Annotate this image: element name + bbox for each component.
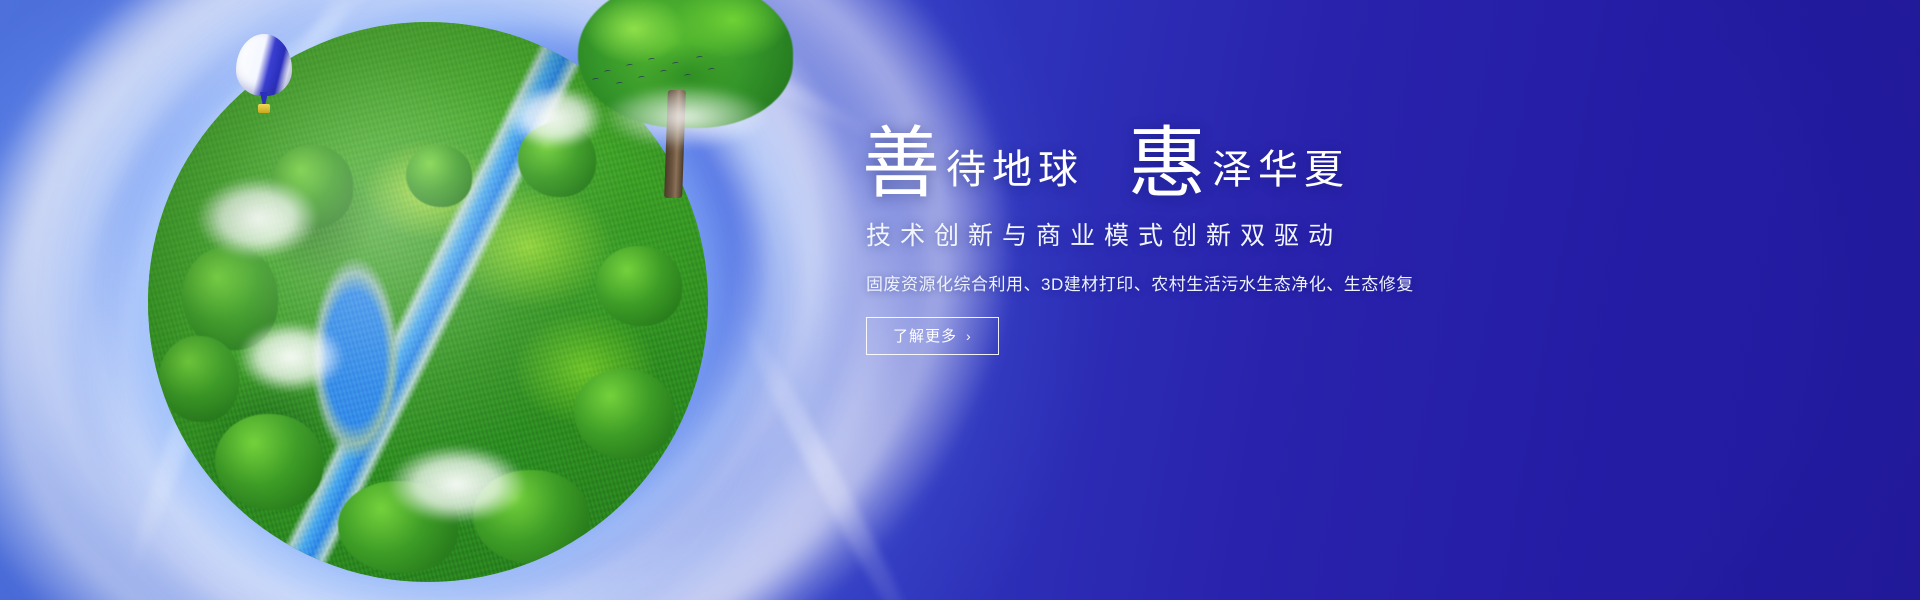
page-description: 固废资源化综合利用、3D建材打印、农村生活污水生态净化、生态修复 bbox=[866, 270, 1482, 295]
headline-chars-small: 泽华夏 bbox=[1212, 150, 1350, 200]
headline-char-large: 善 bbox=[862, 128, 940, 200]
hero-tree-icon bbox=[568, 4, 798, 204]
page-subtitle: 技术创新与商业模式创新双驱动 bbox=[866, 216, 1482, 252]
tiny-planet-image bbox=[148, 22, 708, 582]
bird-icon bbox=[638, 76, 645, 81]
chevron-right-icon: › bbox=[966, 329, 972, 343]
banner-content: 善 待地球 惠 泽华夏 技术创新与商业模式创新双驱动 固废资源化综合利用、3D建… bbox=[862, 128, 1482, 355]
balloon-envelope bbox=[236, 34, 292, 96]
balloon-basket bbox=[258, 104, 270, 113]
headline-phrase-one: 善 待地球 bbox=[862, 128, 1084, 200]
bird-icon bbox=[696, 56, 703, 61]
hero-banner: 善 待地球 惠 泽华夏 技术创新与商业模式创新双驱动 固废资源化综合利用、3D建… bbox=[0, 0, 1920, 600]
bird-flock-icon bbox=[590, 52, 720, 98]
bird-icon bbox=[684, 74, 691, 79]
bird-icon bbox=[708, 68, 715, 73]
bird-icon bbox=[604, 70, 611, 75]
bird-icon bbox=[592, 78, 599, 83]
bird-icon bbox=[660, 70, 667, 75]
headline-phrase-two: 惠 泽华夏 bbox=[1128, 128, 1350, 200]
bird-icon bbox=[616, 82, 623, 87]
learn-more-button[interactable]: 了解更多 › bbox=[866, 317, 999, 355]
hot-air-balloon-icon bbox=[236, 34, 292, 120]
headline-char-large: 惠 bbox=[1128, 128, 1206, 200]
headline-chars-small: 待地球 bbox=[946, 150, 1084, 200]
bird-icon bbox=[648, 58, 655, 63]
learn-more-label: 了解更多 bbox=[893, 325, 957, 346]
page-title: 善 待地球 惠 泽华夏 bbox=[862, 128, 1482, 200]
bird-icon bbox=[626, 64, 633, 69]
bird-icon bbox=[672, 62, 679, 67]
balloon-neck bbox=[260, 92, 268, 104]
